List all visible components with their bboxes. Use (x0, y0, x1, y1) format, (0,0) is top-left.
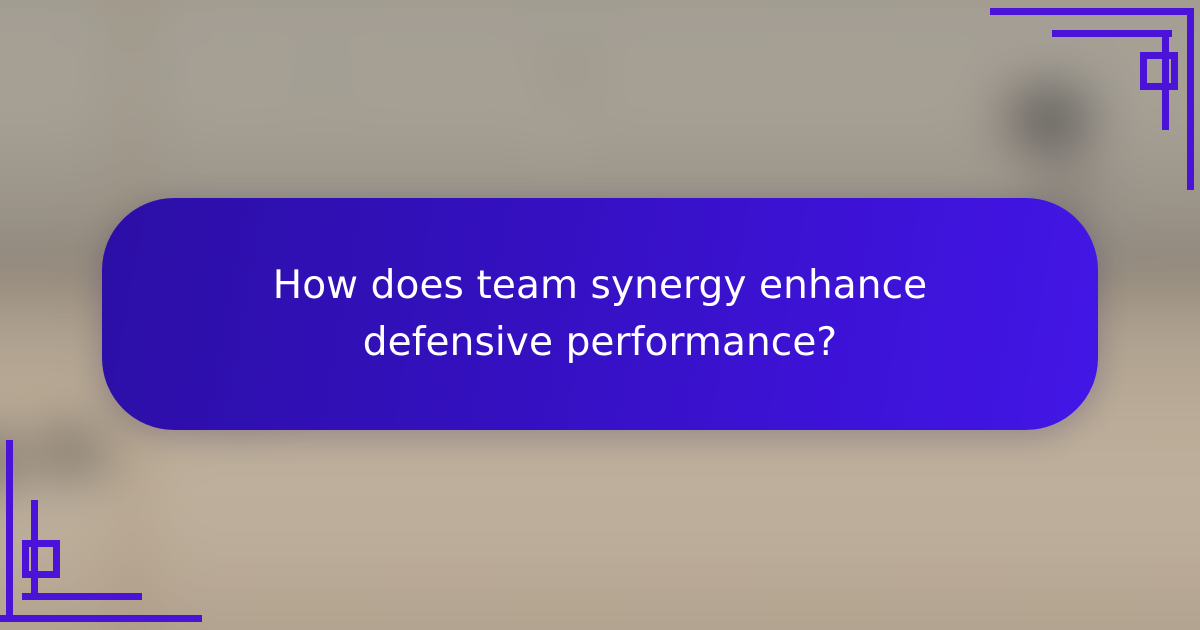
small-square-icon (22, 540, 60, 578)
inner-horizontal-line-icon (1052, 30, 1172, 37)
corner-stub-icon (1187, 8, 1194, 38)
outer-horizontal-line-icon (990, 8, 1192, 15)
question-text: How does team synergy enhance defensive … (220, 257, 980, 371)
corner-frame-top-right (990, 0, 1200, 200)
inner-horizontal-line-icon (22, 593, 142, 600)
small-square-icon (1140, 52, 1178, 90)
corner-stub-icon (6, 592, 13, 622)
outer-horizontal-line-icon (0, 615, 202, 622)
corner-frame-bottom-left (0, 430, 210, 630)
slide-canvas: How does team synergy enhance defensive … (0, 0, 1200, 630)
question-card: How does team synergy enhance defensive … (102, 198, 1098, 430)
